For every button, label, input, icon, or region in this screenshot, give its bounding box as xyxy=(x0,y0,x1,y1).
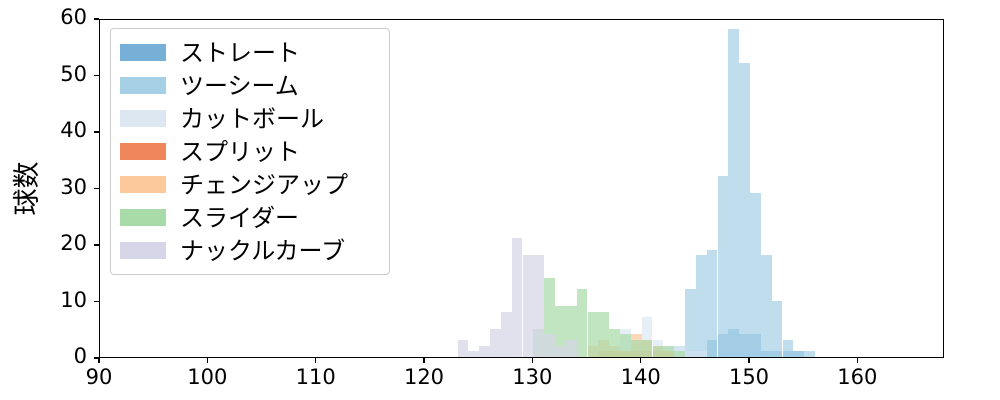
figure: 球数 0102030405060 90100110120130140150160… xyxy=(0,0,1000,400)
histogram-bar xyxy=(544,334,555,357)
y-tick-label: 20 xyxy=(0,231,87,255)
x-tick-mark xyxy=(857,358,858,363)
x-tick-mark xyxy=(748,358,749,363)
x-tick-mark xyxy=(640,358,641,363)
legend-item-label: スライダー xyxy=(180,206,299,230)
histogram-bar xyxy=(566,340,577,357)
histogram-bar xyxy=(523,255,534,357)
x-tick-label: 150 xyxy=(709,365,789,389)
histogram-bar xyxy=(588,312,599,357)
histogram-bar xyxy=(718,176,729,357)
legend-item[interactable]: ナックルカーブ xyxy=(120,234,380,267)
y-tick-label: 50 xyxy=(0,62,87,86)
histogram-bar xyxy=(598,312,609,357)
x-tick-mark xyxy=(207,358,208,363)
legend-item-label: チェンジアップ xyxy=(180,173,348,197)
histogram-bar xyxy=(609,329,620,357)
legend-item-label: ツーシーム xyxy=(180,74,299,98)
histogram-bar xyxy=(490,329,501,357)
x-tick-mark xyxy=(423,358,424,363)
legend: ストレートツーシームカットボールスプリットチェンジアップスライダーナックルカーブ xyxy=(110,28,390,275)
histogram-bar xyxy=(577,289,588,357)
legend-item[interactable]: スプリット xyxy=(120,135,380,168)
histogram-bar xyxy=(685,289,696,357)
x-tick-label: 140 xyxy=(601,365,681,389)
legend-item-label: スプリット xyxy=(180,140,300,164)
histogram-bar xyxy=(468,351,479,357)
histogram-bar xyxy=(533,255,544,357)
histogram-bar xyxy=(458,340,469,357)
histogram-bar xyxy=(696,255,707,357)
legend-swatch-icon xyxy=(120,110,166,127)
legend-item[interactable]: カットボール xyxy=(120,102,380,135)
legend-item-label: カットボール xyxy=(180,107,324,131)
histogram-bar xyxy=(696,351,707,357)
y-tick-label: 40 xyxy=(0,118,87,142)
histogram-bar xyxy=(707,250,718,357)
legend-swatch-icon xyxy=(120,176,166,193)
histogram-bar xyxy=(750,193,761,357)
legend-swatch-icon xyxy=(120,77,166,94)
histogram-bar xyxy=(793,351,804,357)
x-tick-mark xyxy=(315,358,316,363)
histogram-bar xyxy=(663,346,674,357)
legend-item-label: ストレート xyxy=(180,41,300,65)
histogram-bar xyxy=(804,351,815,357)
histogram-bar xyxy=(772,301,783,358)
histogram-bar xyxy=(653,346,664,357)
histogram-bar xyxy=(555,346,566,357)
y-tick-label: 60 xyxy=(0,5,87,29)
legend-item[interactable]: スライダー xyxy=(120,201,380,234)
legend-item-label: ナックルカーブ xyxy=(180,239,345,263)
legend-item[interactable]: ツーシーム xyxy=(120,69,380,102)
histogram-bar xyxy=(631,340,642,357)
legend-item[interactable]: チェンジアップ xyxy=(120,168,380,201)
legend-item[interactable]: ストレート xyxy=(120,36,380,69)
legend-swatch-icon xyxy=(120,44,166,61)
x-tick-label: 130 xyxy=(492,365,572,389)
histogram-bar xyxy=(512,238,523,357)
histogram-bar xyxy=(739,63,750,357)
legend-swatch-icon xyxy=(120,242,166,259)
x-tick-label: 110 xyxy=(276,365,356,389)
x-tick-label: 100 xyxy=(167,365,247,389)
histogram-bar xyxy=(674,351,685,357)
histogram-bar xyxy=(620,334,631,357)
legend-swatch-icon xyxy=(120,209,166,226)
y-tick-label: 30 xyxy=(0,175,87,199)
histogram-bar xyxy=(728,29,739,357)
histogram-bar xyxy=(685,351,696,357)
histogram-bar xyxy=(642,340,653,357)
histogram-bar xyxy=(501,312,512,357)
x-tick-label: 120 xyxy=(384,365,464,389)
legend-swatch-icon xyxy=(120,143,166,160)
x-tick-label: 90 xyxy=(59,365,139,389)
histogram-bar xyxy=(783,340,794,357)
x-tick-mark xyxy=(98,358,99,363)
histogram-bar xyxy=(761,255,772,357)
x-tick-label: 160 xyxy=(817,365,897,389)
histogram-bar xyxy=(479,346,490,357)
y-tick-label: 10 xyxy=(0,288,87,312)
x-tick-mark xyxy=(532,358,533,363)
